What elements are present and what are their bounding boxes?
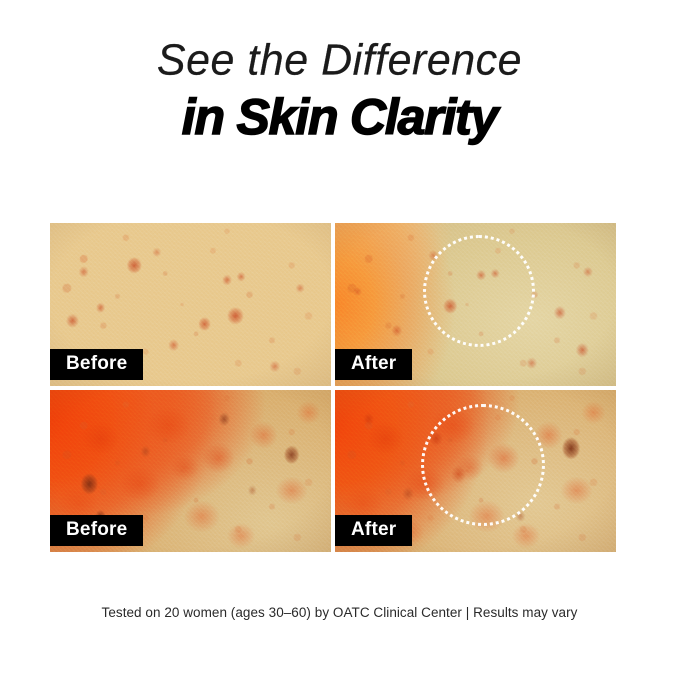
panel-label-after: After <box>335 349 412 380</box>
poster-root: See the Difference in Skin Clarity Befor… <box>0 0 679 679</box>
panel-bottom-right-after: After <box>335 390 616 553</box>
panel-top-left-before: Before <box>50 223 331 386</box>
highlight-circle-icon <box>421 404 545 526</box>
panel-label-before: Before <box>50 349 143 380</box>
headline-line-1: See the Difference <box>0 38 679 84</box>
panel-label-before: Before <box>50 515 143 546</box>
panel-bottom-left-before: Before <box>50 390 331 553</box>
page-title: See the Difference in Skin Clarity <box>0 38 679 144</box>
highlight-circle-icon <box>423 235 535 347</box>
panel-label-after: After <box>335 515 412 546</box>
before-after-grid: Before After Before <box>50 223 616 552</box>
panel-top-right-after: After <box>335 223 616 386</box>
footer-disclaimer: Tested on 20 women (ages 30–60) by OATC … <box>0 605 679 620</box>
headline-line-2: in Skin Clarity <box>0 90 679 144</box>
